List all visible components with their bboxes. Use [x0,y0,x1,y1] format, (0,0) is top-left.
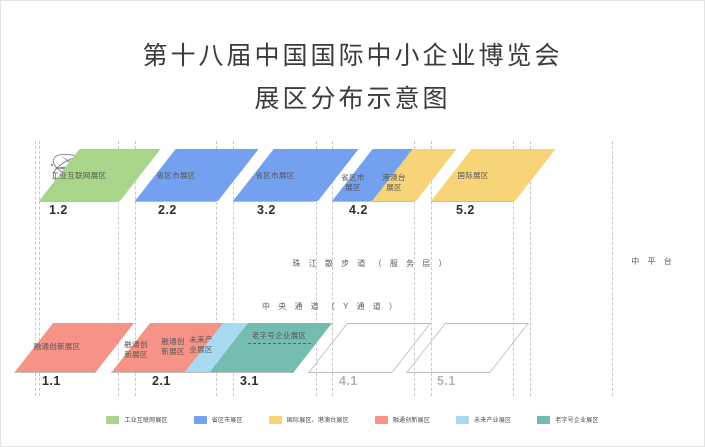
legend-swatch-icon [456,416,469,424]
title-line-1: 第十八届中国国际中小企业博览会 [1,35,704,78]
caption-rule [209,372,291,373]
caption-rule [332,201,414,202]
legend-item: 融通创新展区 [375,415,430,424]
title-line-2: 展区分布示意图 [1,78,704,121]
legend: 工业互联网展区 省区市展区 国际展区、港澳台展区 融通创新展区 未来产业展区 老… [1,415,704,424]
legend-item: 省区市展区 [194,415,243,424]
zone-3-1-caption: 3.1 [240,374,259,388]
zone-5-2[interactable] [431,149,513,199]
caption-rule [111,372,215,373]
legend-swatch-icon [194,416,207,424]
zone-5-1-caption: 5.1 [437,374,456,388]
zone-3-1[interactable] [209,323,291,371]
legend-label: 老字号企业展区 [555,415,598,424]
zone-4-2-yellow[interactable] [372,149,414,199]
zone-5-2-caption: 5.2 [456,203,475,217]
zone-3-2-caption: 3.2 [257,203,276,217]
platform-middle-label: 中 平 台 [631,256,674,267]
caption-rule [431,201,513,202]
floor-plan: 工业互联网展区 省区市展区 省区市展区 省区市展区 港澳台展区 国际展区 [1,141,705,396]
caption-rule [233,201,316,202]
zone-2-1-b[interactable] [158,323,184,371]
legend-label: 工业互联网展区 [124,415,167,424]
legend-item: 老字号企业展区 [537,415,598,424]
zone-4-2-caption: 4.2 [349,203,368,217]
legend-item: 未来产业展区 [456,415,511,424]
zone-5-1[interactable] [406,323,488,371]
page-title: 第十八届中国国际中小企业博览会 展区分布示意图 [1,35,704,121]
zone-1-1-caption: 1.1 [42,374,61,388]
zone-4-1-caption: 4.1 [339,374,358,388]
legend-swatch-icon [375,416,388,424]
caption-rule [406,372,488,373]
zone-1-1[interactable] [14,323,93,371]
zone-4-1[interactable] [308,323,390,371]
caption-rule [135,201,216,202]
legend-item: 工业互联网展区 [106,415,167,424]
zone-1-2-caption: 1.2 [49,203,68,217]
legend-label: 融通创新展区 [393,415,430,424]
zone-2-2[interactable] [135,149,216,199]
legend-item: 国际展区、港澳台展区 [269,415,349,424]
corridor-central-passage-label: 中 央 通 道 （ Y 通 道 ） [262,301,400,312]
zone-4-2-blue[interactable] [332,149,372,199]
legend-label: 国际展区、港澳台展区 [287,415,349,424]
zone-fill [431,149,556,201]
legend-label: 未来产业展区 [474,415,511,424]
zone-3-1-divider [248,343,311,344]
legend-label: 省区市展区 [212,415,243,424]
zone-2-1-caption: 2.1 [152,374,171,388]
caption-rule [39,201,118,202]
caption-rule [308,372,390,373]
legend-swatch-icon [269,416,282,424]
zone-3-2[interactable] [233,149,316,199]
zone-outline [406,323,529,373]
caption-rule [14,372,93,373]
corridor-pearl-river-walkway-label: 珠 江 散 步 道 （ 服 务 层 ） [292,258,449,269]
zone-2-1-a[interactable] [111,323,158,371]
zone-2-2-caption: 2.2 [158,203,177,217]
legend-swatch-icon [537,416,550,424]
legend-swatch-icon [106,416,119,424]
diagram-frame: 第十八届中国国际中小企业博览会 展区分布示意图 [0,0,705,447]
zone-1-2[interactable] [39,149,118,199]
